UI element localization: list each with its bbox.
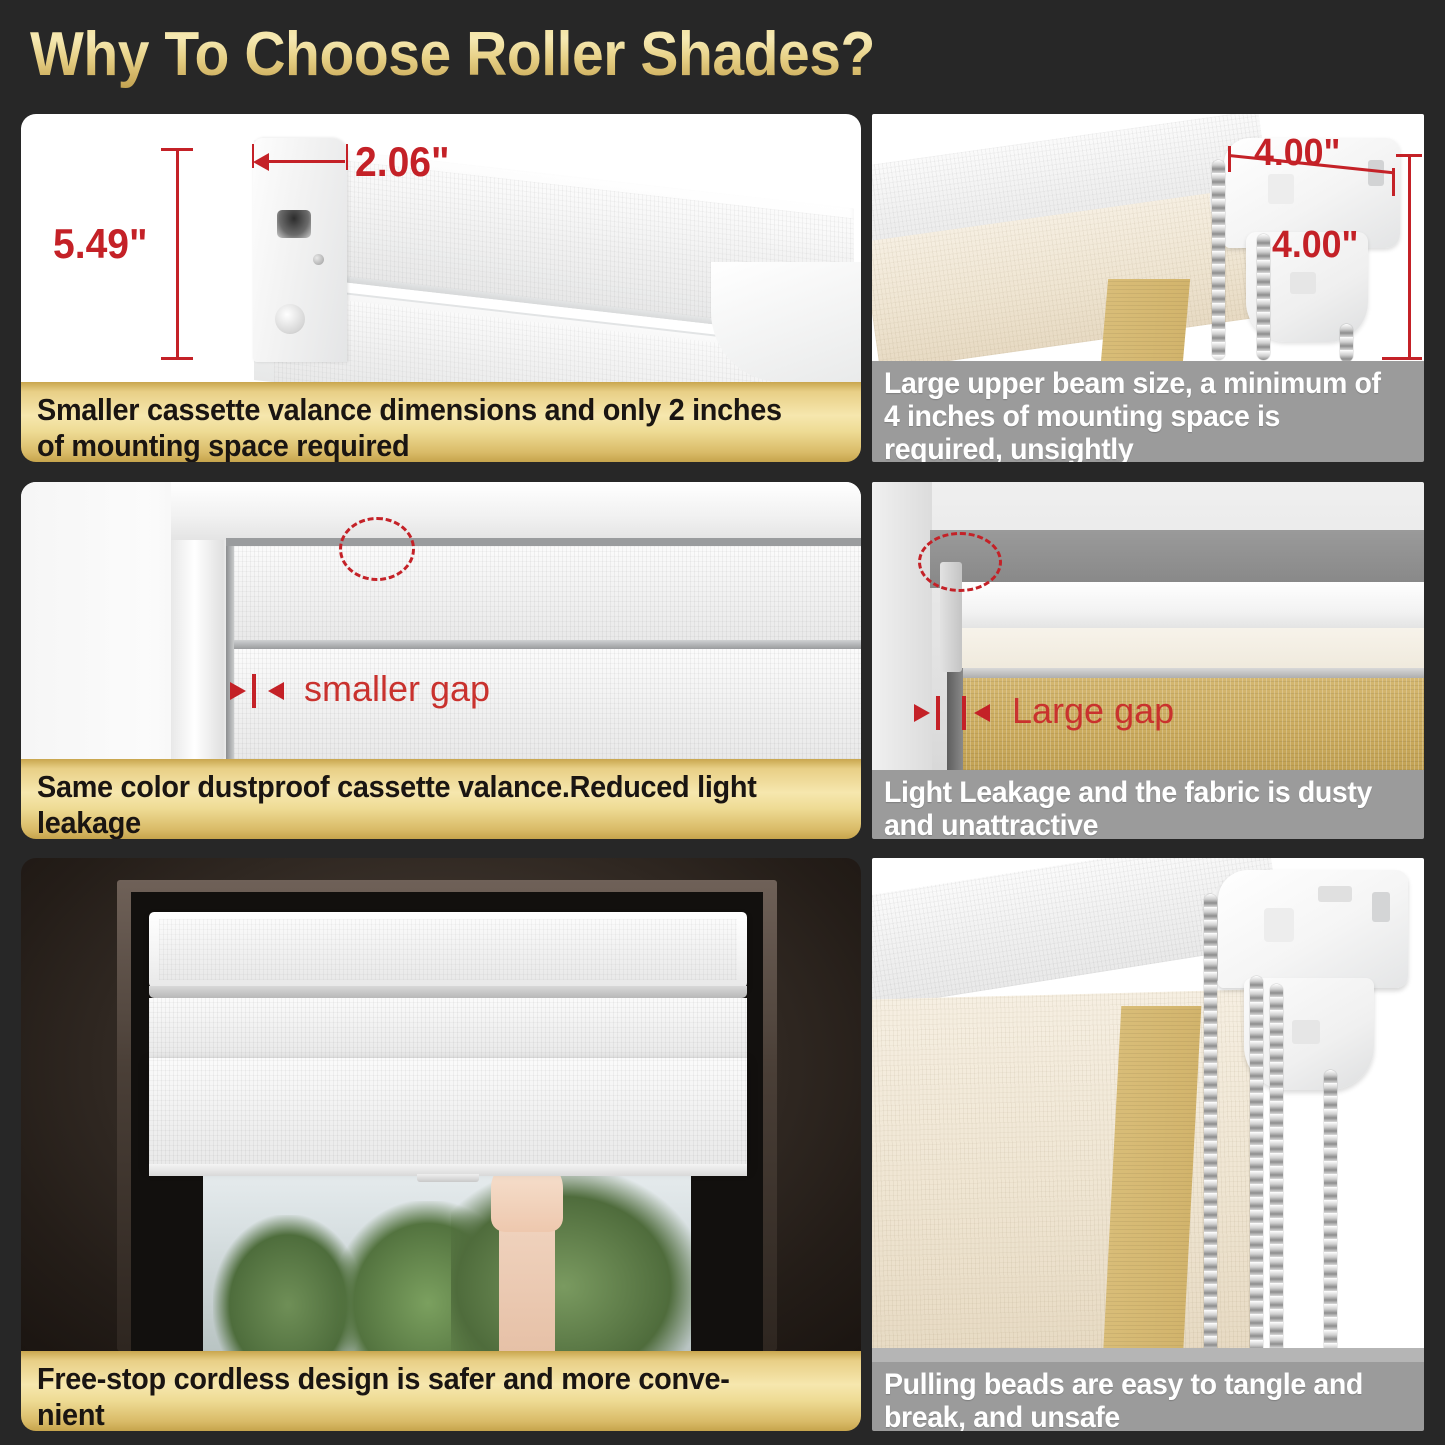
page-title-text: Why To Choose Roller Shades? bbox=[30, 14, 1300, 96]
gap-arrow-right bbox=[974, 704, 990, 722]
dim-width-tick-right bbox=[346, 144, 348, 170]
panel-3-caption-text: Same color dustproof cassette valance.Re… bbox=[37, 769, 788, 839]
headrail-cassette bbox=[149, 912, 747, 988]
panel-6-photo bbox=[872, 858, 1424, 1362]
valance-cream-band bbox=[956, 628, 1424, 672]
panel-4-caption: Light Leakage and the fabric is dusty an… bbox=[872, 770, 1424, 839]
valance-white bbox=[950, 582, 1424, 632]
bead-chain-left bbox=[1204, 894, 1217, 1362]
mount-bracket-upper bbox=[1218, 870, 1408, 988]
cassette-edge bbox=[226, 538, 861, 546]
highlight-circle bbox=[918, 532, 1002, 592]
panel-6-caption: Pulling beads are easy to tangle and bre… bbox=[872, 1362, 1424, 1431]
panel-5-photo bbox=[21, 858, 861, 1351]
end-bracket bbox=[253, 138, 347, 362]
dim-width-line bbox=[267, 160, 345, 163]
dim-height-line bbox=[176, 148, 179, 360]
bead-chain-mid-b bbox=[1270, 984, 1283, 1362]
mount-bracket-lower bbox=[1244, 978, 1374, 1090]
pull-tab bbox=[417, 1174, 479, 1182]
fabric-cream-body bbox=[872, 990, 1261, 1362]
dimension-label-height: 5.49" bbox=[53, 220, 148, 268]
panel-dustproof-valance: smaller gap Same color dustproof cassett… bbox=[21, 482, 861, 839]
dimension-label-width: 2.06" bbox=[355, 138, 450, 186]
shade-left-edge bbox=[226, 546, 234, 759]
panel-cordless-design: Free-stop cordless design is safer and m… bbox=[21, 858, 861, 1431]
dim-w-tick-l bbox=[1228, 146, 1231, 172]
bracket-slot-upper bbox=[277, 210, 311, 238]
dim-width-arrow-left bbox=[253, 153, 269, 171]
gap-arrow-left bbox=[914, 704, 930, 722]
wall-left bbox=[872, 482, 932, 770]
gap-tick-b bbox=[962, 696, 966, 730]
bead-chain-mid-a bbox=[1250, 976, 1263, 1362]
panel-5-caption: Free-stop cordless design is safer and m… bbox=[21, 1351, 861, 1431]
bead-chain-mid bbox=[1257, 234, 1270, 360]
bead-chain-left bbox=[1212, 160, 1225, 360]
comparison-grid: 2.06" 5.49" Smaller cassette valance dim… bbox=[0, 100, 1445, 1445]
panel-smaller-cassette: 2.06" 5.49" Smaller cassette valance dim… bbox=[21, 114, 861, 462]
panel-1-caption-text: Smaller cassette valance dimensions and … bbox=[37, 392, 788, 462]
panel-6-caption-text: Pulling beads are easy to tangle and bre… bbox=[884, 1368, 1386, 1431]
top-shadow-band bbox=[930, 530, 1424, 588]
panel-light-leakage: Large gap Light Leakage and the fabric i… bbox=[872, 482, 1424, 839]
light-gap-strip bbox=[947, 668, 963, 770]
panel-1-caption: Smaller cassette valance dimensions and … bbox=[21, 382, 861, 462]
bead-chain-right bbox=[1340, 324, 1353, 361]
bead-chain-right bbox=[1324, 1070, 1337, 1362]
gap-tick-a bbox=[936, 696, 940, 730]
window-trim-top bbox=[171, 482, 861, 540]
gap-arrow-left bbox=[230, 682, 246, 700]
bracket-screw-mid bbox=[313, 254, 324, 265]
dim-h-line bbox=[1408, 154, 1411, 359]
panel-3-caption: Same color dustproof cassette valance.Re… bbox=[21, 759, 861, 839]
panel-2-caption-text: Large upper beam size, a minimum of 4 in… bbox=[884, 367, 1386, 462]
dim-h-tick-b bbox=[1382, 357, 1422, 360]
window-glass bbox=[203, 1158, 691, 1351]
bracket-screw-lower bbox=[275, 304, 305, 334]
panel-1-photo: 2.06" 5.49" bbox=[21, 114, 861, 382]
valance-endcurl bbox=[711, 262, 861, 382]
shade-fabric-khaki bbox=[1100, 279, 1190, 361]
tree-right bbox=[451, 1171, 691, 1351]
dimension-label-beam-width: 4.00" bbox=[1254, 132, 1340, 175]
panel-pulling-beads: Pulling beads are easy to tangle and bre… bbox=[872, 858, 1424, 1431]
headrail-lip bbox=[149, 986, 747, 998]
gap-label-smaller: smaller gap bbox=[304, 668, 490, 710]
gap-label-large: Large gap bbox=[1012, 690, 1174, 732]
gap-tick bbox=[252, 674, 256, 708]
panel-2-photo: 4.00" 4.00" bbox=[872, 114, 1424, 361]
highlight-circle bbox=[339, 517, 415, 581]
panel-3-photo: smaller gap bbox=[21, 482, 861, 759]
panel-2-caption: Large upper beam size, a minimum of 4 in… bbox=[872, 361, 1424, 462]
gap-arrow-right bbox=[268, 682, 284, 700]
panel-large-beam: 4.00" 4.00" Large upper beam size, a min… bbox=[872, 114, 1424, 462]
dimension-label-beam-height: 4.00" bbox=[1272, 224, 1358, 267]
valance-band bbox=[149, 998, 747, 1058]
cassette-lip bbox=[226, 640, 861, 649]
panel-4-photo: Large gap bbox=[872, 482, 1424, 770]
valance-bottom-rail bbox=[956, 668, 1424, 678]
page-title: Why To Choose Roller Shades? bbox=[30, 14, 1410, 96]
panel-5-caption-text: Free-stop cordless design is safer and m… bbox=[37, 1361, 788, 1431]
shade-fabric-main bbox=[149, 1058, 747, 1166]
floor-band bbox=[872, 1348, 1424, 1362]
cassette-face bbox=[226, 546, 861, 642]
panel-4-caption-text: Light Leakage and the fabric is dusty an… bbox=[884, 776, 1386, 839]
